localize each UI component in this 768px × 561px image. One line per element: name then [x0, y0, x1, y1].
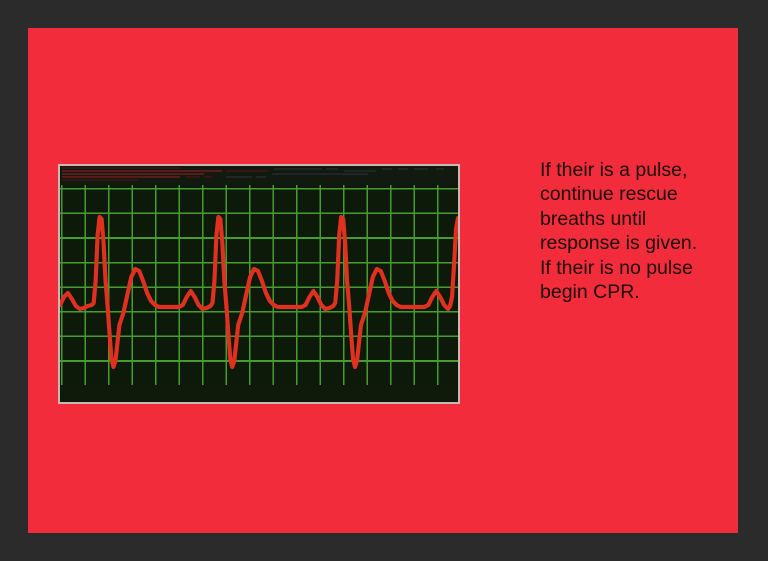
- ecg-monitor-image: [58, 164, 460, 404]
- header-smudge-bar: [436, 168, 444, 170]
- header-smudge-bar: [62, 176, 180, 178]
- header-smudge-bar: [226, 170, 268, 172]
- ecg-waveform: [60, 185, 458, 402]
- header-smudge-bar: [382, 168, 392, 170]
- header-smudge-bar: [414, 168, 428, 170]
- slide-canvas: If their is a pulse, continue rescue bre…: [28, 28, 738, 533]
- header-smudge-bar: [256, 176, 266, 178]
- monitor-header-strip: [60, 166, 458, 185]
- header-smudge-bar: [62, 179, 138, 181]
- header-smudge-bar: [186, 176, 200, 178]
- monitor-grid-area: [60, 185, 458, 402]
- header-smudge-bar: [326, 168, 338, 170]
- header-smudge-bar: [62, 170, 222, 172]
- header-smudge-bar: [62, 167, 180, 169]
- instruction-text: If their is a pulse, continue rescue bre…: [540, 158, 700, 304]
- header-smudge-bar: [62, 173, 204, 175]
- header-smudge-bar: [272, 173, 368, 175]
- header-smudge-bar: [226, 176, 252, 178]
- header-smudge-bar: [274, 168, 322, 170]
- header-smudge-bar: [344, 170, 376, 172]
- header-smudge-bar: [204, 176, 212, 178]
- monitor-footer-strip: [60, 385, 458, 402]
- header-smudge-bar: [398, 168, 408, 170]
